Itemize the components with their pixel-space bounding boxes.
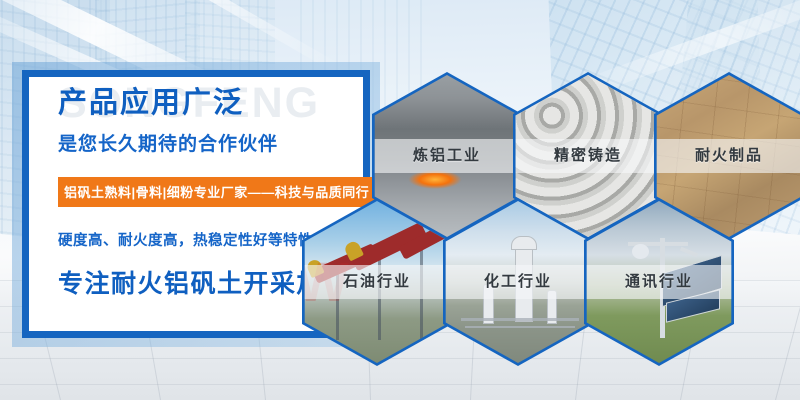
hex-label-chemical-industry: 化工行业 bbox=[443, 265, 593, 299]
hex-label-aluminum-smelting: 炼铝工业 bbox=[372, 139, 522, 173]
hex-label-refractory-products: 耐火制品 bbox=[654, 139, 800, 173]
page-subtitle: 是您长久期待的合作伙伴 bbox=[58, 129, 358, 156]
page-title: 产品应用广泛 bbox=[58, 88, 358, 120]
hex-label-precision-casting: 精密铸造 bbox=[513, 139, 663, 173]
hex-label-telecom-industry: 通讯行业 bbox=[584, 265, 734, 299]
tagline-badge: 铝矾土熟料|骨料|细粉专业厂家——科技与品质同行 bbox=[58, 177, 375, 207]
banner-stage: SONGFENG 产品应用广泛 是您长久期待的合作伙伴 铝矾土熟料|骨料|细粉专… bbox=[0, 0, 800, 400]
hex-label-petroleum-industry: 石油行业 bbox=[302, 265, 452, 299]
